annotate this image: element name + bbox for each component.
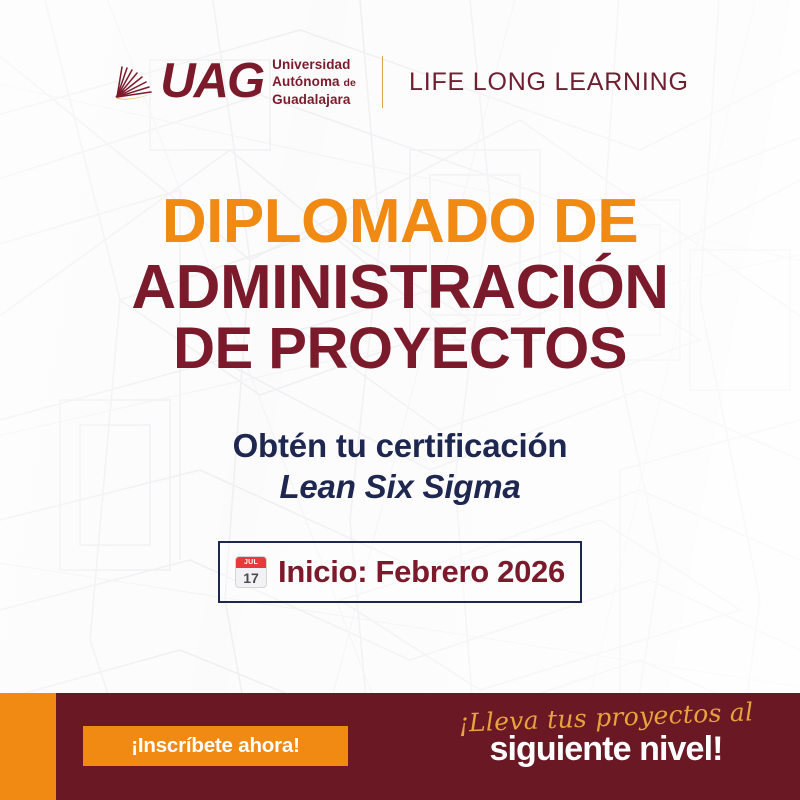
- title-block: DIPLOMADO DE ADMINISTRACIÓN DE PROYECTOS: [0, 192, 800, 377]
- background-wash: [0, 0, 800, 800]
- header-divider: [382, 56, 383, 108]
- university-name: Universidad Autónoma de Guadalajara: [272, 56, 356, 108]
- title-line-2: ADMINISTRACIÓN: [0, 258, 800, 318]
- calendar-day: 17: [236, 568, 266, 587]
- subtitle-line-2: Lean Six Sigma: [0, 469, 800, 506]
- uag-book-fan-icon: [111, 60, 157, 104]
- bottom-banner: ¡Inscríbete ahora! ¡Lleva tus proyectos …: [0, 693, 800, 800]
- calendar-month: JUL: [236, 557, 266, 568]
- title-line-3: DE PROYECTOS: [0, 321, 800, 377]
- subtitle-block: Obtén tu certificación Lean Six Sigma: [0, 428, 800, 506]
- university-line-1: Universidad: [272, 56, 356, 73]
- university-line-2: Autónoma de: [272, 73, 356, 90]
- uag-logo: UAG Universidad Autónoma de Guadalajara: [111, 56, 356, 108]
- start-date-text: Inicio: Febrero 2026: [278, 554, 565, 590]
- header: UAG Universidad Autónoma de Guadalajara …: [0, 56, 800, 108]
- tagline-bold: siguiente nivel!: [436, 732, 776, 767]
- subtitle-line-1: Obtén tu certificación: [0, 428, 800, 465]
- uag-acronym: UAG: [160, 57, 263, 106]
- promo-poster: UAG Universidad Autónoma de Guadalajara …: [0, 0, 800, 800]
- banner-accent-strip: [0, 693, 56, 800]
- tagline-block: ¡Lleva tus proyectos al siguiente nivel!: [436, 705, 776, 767]
- calendar-icon: JUL 17: [235, 556, 267, 588]
- program-label: LIFE LONG LEARNING: [409, 68, 689, 97]
- blueprint-watermark: [0, 0, 800, 800]
- title-line-1: DIPLOMADO DE: [0, 192, 800, 252]
- university-line-3: Guadalajara: [272, 91, 356, 108]
- start-date-box: JUL 17 Inicio: Febrero 2026: [218, 541, 582, 603]
- enroll-button[interactable]: ¡Inscríbete ahora!: [83, 726, 348, 766]
